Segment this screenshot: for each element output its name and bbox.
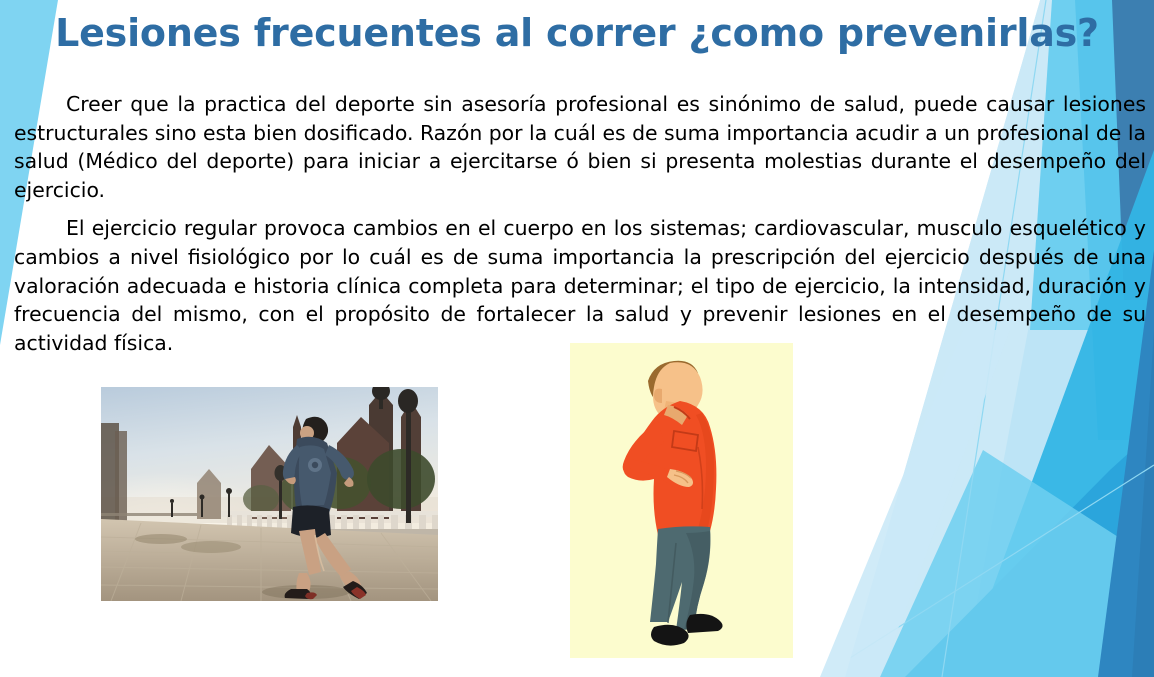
photo-shadow-1 <box>135 534 187 544</box>
decor-hairline-2 <box>820 465 1154 677</box>
presentation-slide: Lesiones frecuentes al correr ¿como prev… <box>0 0 1154 677</box>
photo-tree-3 <box>367 449 435 509</box>
slide-title: Lesiones frecuentes al correr ¿como prev… <box>0 12 1154 56</box>
paragraph-2: El ejercicio regular provoca cambios en … <box>14 214 1146 357</box>
decor-shape-sliver <box>820 330 1010 677</box>
paragraph-1: Creer que la practica del deporte sin as… <box>14 90 1146 204</box>
slide-body-text: Creer que la practica del deporte sin as… <box>14 90 1146 357</box>
back-pain-illustration <box>570 343 793 658</box>
decor-shape-deep-corner-2 <box>1132 330 1154 677</box>
photo-tree-4 <box>243 485 279 513</box>
photo-left-rail <box>101 513 197 516</box>
decor-shape-bottom-pale <box>880 450 1154 677</box>
photo-shadow-2 <box>181 541 241 553</box>
runner-on-bridge-photo <box>101 387 438 601</box>
photo-building-left-2 <box>115 431 127 527</box>
decor-shape-bottom-blue <box>905 430 1154 677</box>
